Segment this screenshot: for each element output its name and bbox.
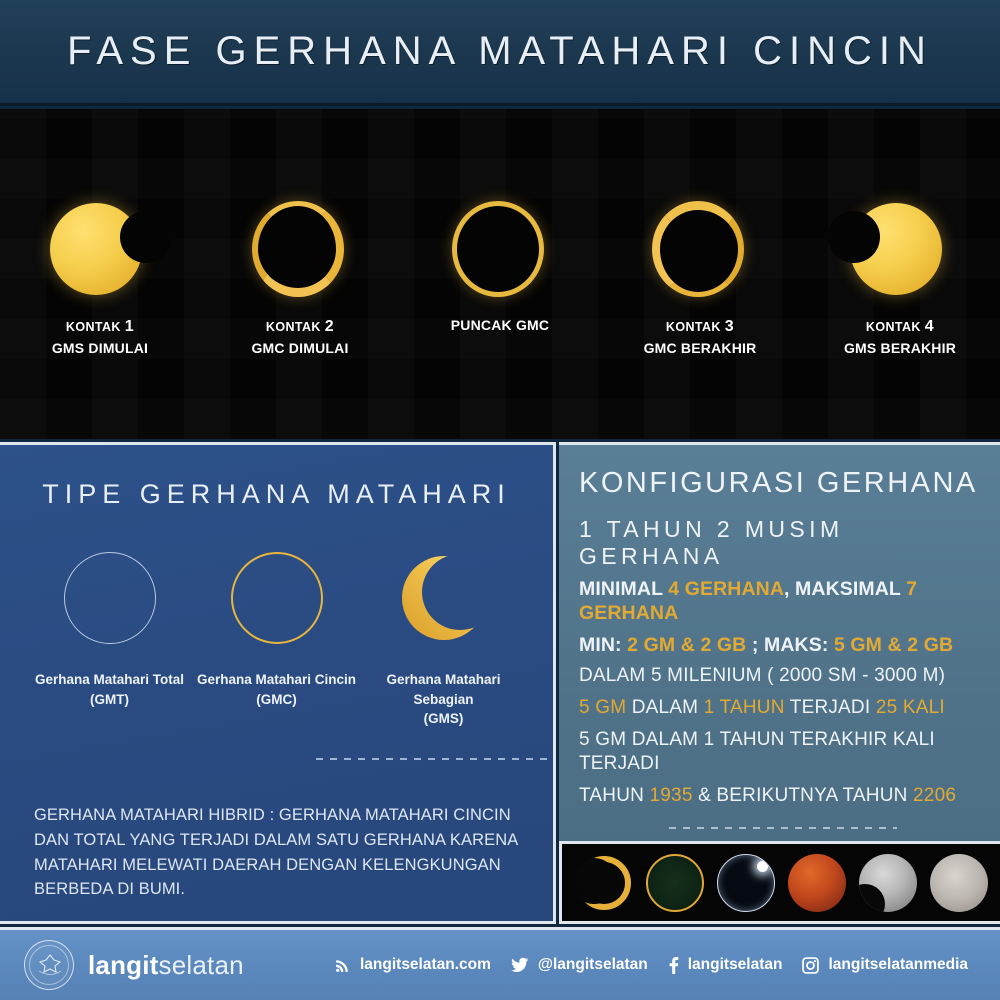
type-abbr: (GMC) — [197, 690, 356, 710]
social-link-facebook[interactable]: langitselatan — [668, 956, 783, 974]
facebook-icon — [668, 957, 679, 974]
phase-contact-label: KONTAK — [866, 320, 921, 334]
highlight-part: 1 TAHUN — [704, 697, 785, 718]
crescent-icon — [398, 552, 490, 644]
brand-name-light: selatan — [159, 950, 244, 980]
instagram-icon — [802, 957, 819, 974]
phase-caption: KONTAK 2 GMC DIMULAI — [251, 315, 348, 358]
annular-ring-icon — [644, 197, 756, 301]
eclipse-phases-section: KONTAK 1 GMS DIMULAI KONTAK 2 GMC DIMULA… — [0, 109, 1000, 439]
phase-number: 2 — [325, 318, 334, 335]
photo-partial-lunar-eclipse — [859, 854, 917, 912]
annular-ring-icon — [244, 197, 356, 301]
text-part: TAHUN — [579, 785, 650, 806]
rss-icon — [334, 957, 351, 974]
eclipse-photo-strip — [559, 841, 1000, 924]
type-caption: Gerhana Matahari Total (GMT) — [35, 670, 184, 709]
social-label: langitselatan — [688, 956, 783, 974]
type-name: Gerhana Matahari Sebagian — [361, 670, 526, 709]
text-part: ; MAKS: — [746, 634, 834, 656]
type-name: Gerhana Matahari Cincin — [197, 670, 356, 690]
config-dashed-divider — [669, 827, 897, 829]
footer-bar: langitselatan langitselatan.com @langits… — [0, 927, 1000, 1000]
social-label: langitselatan.com — [360, 956, 491, 974]
twitter-icon — [511, 957, 529, 973]
config-line-5gm: 5 GM DALAM 1 TAHUN TERJADI 25 KALI — [579, 696, 986, 721]
social-label: @langitselatan — [538, 956, 648, 974]
type-caption: Gerhana Matahari Cincin (GMC) — [197, 670, 356, 709]
phase-label: PUNCAK GMC — [451, 315, 549, 335]
photo-penumbral-lunar-eclipse — [930, 854, 988, 912]
highlight-part: 4 GERHANA — [668, 578, 784, 600]
phase-label: GMS BERAKHIR — [844, 338, 956, 358]
text-part: , MAKSIMAL — [784, 578, 906, 600]
photo-total-lunar-eclipse-blood-moon — [788, 854, 846, 912]
sun-partial-bite-left-icon — [844, 197, 956, 301]
social-link-twitter[interactable]: @langitselatan — [511, 956, 648, 974]
phase-number: 4 — [925, 318, 934, 335]
text-part: MINIMAL — [579, 578, 668, 600]
phase-contact-label: KONTAK — [266, 320, 321, 334]
highlight-part: 25 KALI — [876, 697, 945, 718]
phase-contact-label: KONTAK — [666, 320, 721, 334]
text-part: DALAM — [626, 697, 703, 718]
types-panel-title: TIPE GERHANA MATAHARI — [26, 479, 527, 510]
type-abbr: (GMS) — [361, 709, 526, 729]
phase-item: PUNCAK GMC — [405, 197, 595, 335]
type-name: Gerhana Matahari Total — [35, 670, 184, 690]
text-part: TERJADI — [785, 697, 876, 718]
dashed-divider — [316, 758, 548, 760]
phase-caption: KONTAK 3 GMC BERAKHIR — [644, 315, 757, 358]
phase-item: KONTAK 4 GMS BERAKHIR — [805, 197, 995, 358]
phase-number: 3 — [725, 318, 734, 335]
phase-caption: KONTAK 4 GMS BERAKHIR — [844, 315, 956, 358]
highlight-part: 5 GM & 2 GB — [834, 634, 953, 656]
type-caption: Gerhana Matahari Sebagian (GMS) — [361, 670, 526, 729]
config-headline: 1 TAHUN 2 MUSIM GERHANA — [579, 516, 986, 570]
config-panel-title: KONFIGURASI GERHANA — [579, 467, 986, 500]
phase-item: KONTAK 2 GMC DIMULAI — [205, 197, 395, 358]
type-item: Gerhana Matahari Cincin (GMC) — [194, 552, 359, 729]
phase-item: KONTAK 1 GMS DIMULAI — [5, 197, 195, 358]
phase-caption: KONTAK 1 GMS DIMULAI — [52, 315, 148, 358]
types-row: Gerhana Matahari Total (GMT) Gerhana Mat… — [26, 552, 527, 729]
brand-block: langitselatan — [24, 940, 324, 990]
config-line-terakhir: 5 GM DALAM 1 TAHUN TERAKHIR KALI TERJADI — [579, 728, 986, 777]
highlight-part: 2 GM & 2 GB — [627, 634, 746, 656]
type-abbr: (GMT) — [35, 690, 184, 710]
text-part: & BERIKUTNYA TAHUN — [693, 785, 913, 806]
type-item: Gerhana Matahari Total (GMT) — [27, 552, 192, 729]
social-link-instagram[interactable]: langitselatanmedia — [802, 956, 968, 974]
gold-ring-icon — [231, 552, 323, 644]
phase-contact-label: KONTAK — [66, 320, 121, 334]
header-bar: FASE GERHANA MATAHARI CINCIN — [0, 0, 1000, 106]
phase-label: GMS DIMULAI — [52, 338, 148, 358]
photo-annular-solar-eclipse — [646, 854, 704, 912]
eclipse-types-panel: TIPE GERHANA MATAHARI Gerhana Matahari T… — [0, 442, 556, 924]
photo-total-solar-eclipse-diamond-ring — [717, 854, 775, 912]
social-label: langitselatanmedia — [828, 956, 968, 974]
infographic-root: FASE GERHANA MATAHARI CINCIN KONTAK 1 GM… — [0, 0, 1000, 1000]
brand-name-bold: langit — [88, 950, 159, 980]
phase-item: KONTAK 3 GMC BERAKHIR — [605, 197, 795, 358]
phase-label: GMC BERAKHIR — [644, 338, 757, 358]
text-part: MIN: — [579, 634, 627, 656]
hybrid-eclipse-description: GERHANA MATAHARI HIBRID : GERHANA MATAHA… — [34, 803, 528, 902]
highlight-part: 2206 — [913, 785, 956, 806]
langitselatan-seal-icon — [24, 940, 74, 990]
type-item: Gerhana Matahari Sebagian (GMS) — [361, 552, 526, 729]
sun-partial-bite-right-icon — [44, 197, 156, 301]
social-link-website[interactable]: langitselatan.com — [334, 956, 491, 974]
social-links: langitselatan.com @langitselatan langits… — [324, 956, 1000, 974]
phase-caption: PUNCAK GMC — [451, 315, 549, 335]
highlight-part: 5 GM — [579, 697, 626, 718]
page-title: FASE GERHANA MATAHARI CINCIN — [67, 29, 933, 74]
phase-number: 1 — [125, 318, 134, 335]
brand-wordmark: langitselatan — [88, 950, 244, 981]
highlight-part: 1935 — [650, 785, 693, 806]
circle-outline-icon — [64, 552, 156, 644]
config-line-milenium: DALAM 5 MILENIUM ( 2000 SM - 3000 M) — [579, 664, 986, 689]
config-line-min-maks: MIN: 2 GM & 2 GB ; MAKS: 5 GM & 2 GB — [579, 633, 986, 657]
config-line-tahun: TAHUN 1935 & BERIKUTNYA TAHUN 2206 — [579, 784, 986, 809]
annular-ring-centered-icon — [444, 197, 556, 301]
photo-partial-solar-eclipse — [575, 854, 633, 912]
phase-label: GMC DIMULAI — [251, 338, 348, 358]
config-line-minimal: MINIMAL 4 GERHANA, MAKSIMAL 7 GERHANA — [579, 577, 986, 626]
